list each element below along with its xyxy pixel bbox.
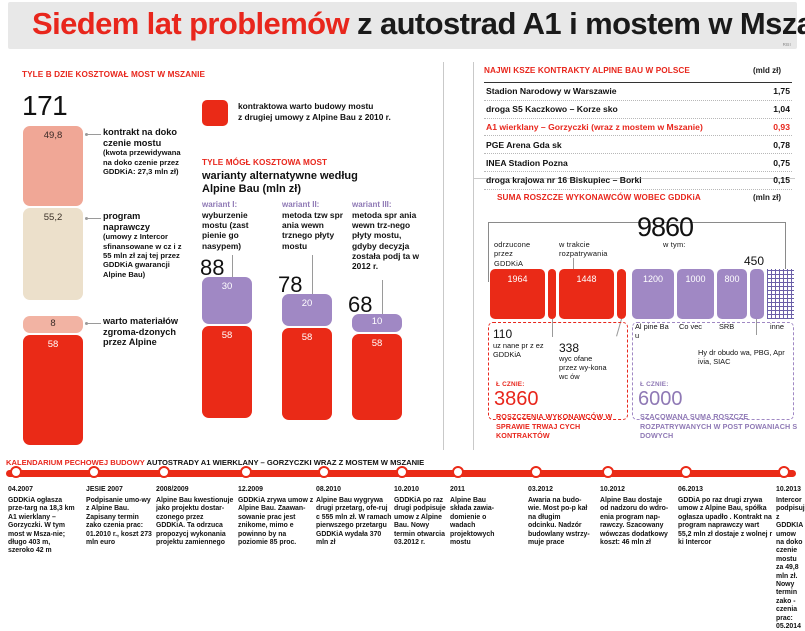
contract-name: A1 wierklany – Gorzyczki (wraz z mostem … <box>486 122 703 132</box>
timeline-dot[interactable] <box>318 466 330 478</box>
legend-text-line1: kontraktowa warto budowy mostu <box>238 101 373 111</box>
timeline-heading: KALENDARIUM PECHOWEJ BUDOWY AUTOSTRADY A… <box>6 458 424 467</box>
stack-segment-4: 58 <box>23 335 83 445</box>
contract-value: 0,93 <box>773 122 790 132</box>
stack-segment-3-value: 8 <box>50 316 55 329</box>
claims-bar-1448-value: 1448 <box>576 269 596 284</box>
timeline-event-text: GDDiA po raz drugi zrywa umow z Alpine B… <box>678 497 772 546</box>
timeline-event-text: Awaria na budo-wie. Most po-p kał na dłu… <box>528 497 590 546</box>
variant-2-base-value: 58 <box>302 328 313 343</box>
table-row: droga krajowa nr 16 Biskupiec – Borki 0,… <box>484 172 792 190</box>
contract-value: 1,75 <box>773 86 790 96</box>
contract-name: PGE Arena Gda sk <box>486 140 562 150</box>
left-panel-total: 171 <box>22 90 67 122</box>
table-row: INEA Stadion Pozna 0,75 <box>484 154 792 172</box>
table-row: Stadion Narodowy w Warszawie 1,75 <box>484 82 792 101</box>
timeline-event: 04.2007 GDDKiA ogłasza prze-targ na 18,3… <box>8 486 78 556</box>
timeline-dot[interactable] <box>680 466 692 478</box>
variant-3-leader <box>382 280 383 314</box>
variant-3-base-bar: 58 <box>352 334 402 420</box>
stack-label-1: kontrakt na doko czenie mostu (kwota prz… <box>103 127 183 176</box>
claims-bar-450 <box>750 269 764 319</box>
timeline-event: 06.2013 GDDiA po raz drugi zrywa umow z … <box>678 486 774 547</box>
stack-segment-1-value: 49,8 <box>44 126 63 141</box>
timeline-event: 10.2010 GDDKiA po raz drugi podpisuje um… <box>394 486 450 547</box>
stack-label-2-sub: (umowy z Intercor sfinansowane w cz i z … <box>103 232 189 279</box>
variant-2-top-value: 20 <box>302 294 313 309</box>
timeline-event-date: 06.2013 <box>678 486 774 494</box>
claims-heading: SUMA ROSZCZE WYKONAWCÓW WOBEC GDDKiA <box>497 193 701 202</box>
timeline-event-text: Alpine Bau składa zawia-domienie o wadac… <box>450 497 494 546</box>
claims-bar-110 <box>548 269 556 319</box>
contract-name: INEA Stadion Pozna <box>486 158 568 168</box>
timeline-event-date: 2008/2009 <box>156 486 234 494</box>
claims-bar-1200-value: 1200 <box>643 269 663 284</box>
stack-label-3: warto materiałów zgroma-dzonych przez Al… <box>103 316 183 348</box>
variant-2-top-bar: 20 <box>282 294 332 326</box>
variant-1-base-bar: 58 <box>202 326 252 418</box>
vertical-divider-right <box>473 62 474 450</box>
claims-total-2-text: SZACOWANA SUMA ROSZCZE ROZPATRYWANYCH W … <box>640 412 800 441</box>
variant-1-desc: wyburzenie mostu (zast pienie go nasypem… <box>202 210 272 251</box>
timeline-event-date: 10.2010 <box>394 486 450 494</box>
timeline-event: 03.2012 Awaria na budo-wie. Most po-p ka… <box>528 486 590 547</box>
timeline-dot[interactable] <box>396 466 408 478</box>
variant-2-desc: metoda tzw spr ania wewn trznego płyty m… <box>282 210 350 251</box>
timeline-event: 10.2013 Intercor podpisuje z GDDKIA umow… <box>776 486 804 631</box>
timeline-heading-black: AUTOSTRADY A1 WIERKLANY – GORZYCZKI WRAZ… <box>147 458 425 467</box>
variants-subheading-line1: warianty alternatywne według <box>202 170 358 182</box>
timeline-dot[interactable] <box>158 466 170 478</box>
timeline-event: JESIE 2007 Podpisanie umo-wy z Alpine Ba… <box>86 486 152 547</box>
timeline-event-text: Alpine Bau wygrywa drugi przetarg, ofe-r… <box>316 497 391 546</box>
variant-1-top-bar: 30 <box>202 277 252 324</box>
claims-unit: (mln zł) <box>753 193 781 202</box>
contracts-unit: (mld zł) <box>753 66 781 75</box>
timeline-dot[interactable] <box>240 466 252 478</box>
claims-grand-total: 9860 <box>637 212 693 243</box>
contract-name: droga krajowa nr 16 Biskupiec – Borki <box>486 175 642 185</box>
vertical-divider-main <box>443 62 444 450</box>
claims-bar-338 <box>617 269 626 319</box>
contracts-table: Stadion Narodowy w Warszawie 1,75 droga … <box>484 82 792 190</box>
stack-label-3-bold: warto materiałów zgroma-dzonych przez Al… <box>103 316 178 347</box>
claims-caption-pending: w trakcie rozpatrywania <box>559 240 619 259</box>
claims-bar-inne <box>767 269 794 319</box>
timeline-event: 08.2010 Alpine Bau wygrywa drugi przetar… <box>316 486 392 547</box>
variant-3-desc: metoda spr ania wewn trz-nego płyty most… <box>352 210 424 271</box>
page-title: Siedem lat problemów z autostrad A1 i mo… <box>32 6 805 42</box>
claims-bar-800-value: 800 <box>724 269 739 284</box>
claims-caption-rejected: odrzucone przez GDDKiA <box>494 240 540 268</box>
timeline-event-date: 03.2012 <box>528 486 590 494</box>
claims-total-1-number: 3860 <box>494 388 539 411</box>
timeline-event-text: GDDKiA po raz drugi podpisuje umow z Alp… <box>394 497 446 546</box>
timeline-dot[interactable] <box>88 466 100 478</box>
page-header: Siedem lat problemów z autostrad A1 i mo… <box>8 2 797 49</box>
timeline-event: 10.2012 Alpine Bau dostaje od nadzoru do… <box>600 486 672 547</box>
stack-label-1-bold: kontrakt na doko czenie mostu <box>103 127 177 148</box>
timeline-dot[interactable] <box>10 466 22 478</box>
timeline-event-text: Alpine Bau kwestionuje jako projektu dos… <box>156 497 233 546</box>
stack-segment-1: 49,8 <box>23 126 83 206</box>
timeline-event-date: 08.2010 <box>316 486 392 494</box>
timeline-heading-red: KALENDARIUM PECHOWEJ BUDOWY <box>6 458 145 467</box>
variant-3-base-value: 58 <box>372 334 383 349</box>
timeline-event-text: Alpine Bau dostaje od nadzoru do wdro- e… <box>600 497 668 546</box>
legend-text-line2: z drugiej umowy z Alpine Bau z 2010 r. <box>238 112 391 122</box>
claims-bar-1000-value: 1000 <box>685 269 705 284</box>
timeline-event-text: GDDKiA zrywa umow z Alpine Bau. Zaawan-s… <box>238 497 313 546</box>
variant-1-name: wariant I: <box>202 200 237 209</box>
contract-value: 0,78 <box>773 140 790 150</box>
contract-name: droga S5 Kaczkowo – Korze sko <box>486 104 618 114</box>
contract-value: 1,04 <box>773 104 790 114</box>
claims-total-2-number: 6000 <box>638 388 683 411</box>
variants-subheading-line2: Alpine Bau (mln zł) <box>202 183 301 195</box>
claims-bar-covec: 1000 <box>677 269 714 319</box>
timeline-event-text: GDDKiA ogłasza prze-targ na 18,3 km A1 w… <box>8 497 75 554</box>
timeline-event-date: 2011 <box>450 486 506 494</box>
variant-2-name: wariant II: <box>282 200 319 209</box>
claims-bar-1448: 1448 <box>559 269 614 319</box>
stack-label-2: program naprawczy (umowy z Intercor sfin… <box>103 211 189 279</box>
legend-text: kontraktowa warto budowy mostu z drugiej… <box>238 101 438 122</box>
timeline-event: 2008/2009 Alpine Bau kwestionuje jako pr… <box>156 486 234 547</box>
timeline-dot[interactable] <box>452 466 464 478</box>
timeline-event: 12.2009 GDDKiA zrywa umow z Alpine Bau. … <box>238 486 314 547</box>
leader-line-1 <box>88 134 101 135</box>
variant-1-base-value: 58 <box>222 326 233 341</box>
claims-bar-450-value: 450 <box>744 254 764 268</box>
header-credit: RBI <box>783 42 791 47</box>
variant-1-top-value: 30 <box>222 277 233 292</box>
timeline-event-date: 10.2012 <box>600 486 672 494</box>
variant-1-leader <box>232 255 233 277</box>
contract-name: Stadion Narodowy w Warszawie <box>486 86 617 96</box>
stack-segment-3: 8 <box>23 316 83 333</box>
variant-2-leader <box>312 255 313 294</box>
claims-total-2-label: Ł CZNIE: <box>640 381 669 388</box>
contract-value: 0,15 <box>773 175 790 185</box>
stack-segment-2-value: 55,2 <box>44 208 63 223</box>
page-title-red: Siedem lat problemów <box>32 6 349 41</box>
page-title-black: z autostrad A1 i mostem w Mszanie <box>357 6 805 41</box>
stack-label-1-sub: (kwota przewidywana na doko czenie przez… <box>103 148 183 176</box>
legend-swatch-icon <box>202 100 228 126</box>
infographic-page: Siedem lat problemów z autostrad A1 i mo… <box>0 0 805 545</box>
claims-total-1-text: ROSZCZENIA WYKONAWCÓW W SPRAWIE TRWAJ CY… <box>496 412 636 441</box>
timeline-event-text: Intercor podpisuje z GDDKIA umow na doko… <box>776 497 805 630</box>
claims-bar-srb: 800 <box>717 269 747 319</box>
left-panel-heading: TYLE B DZIE KOSZTOWAŁ MOST W MSZANIE <box>22 70 205 79</box>
timeline-dot[interactable] <box>602 466 614 478</box>
timeline-dot[interactable] <box>530 466 542 478</box>
variants-heading: TYLE MÓGŁ KOSZTOWA MOST <box>202 158 327 167</box>
timeline-event-text: Podpisanie umo-wy z Alpine Bau. Zapisany… <box>86 497 152 546</box>
claims-total-1-label: Ł CZNIE: <box>496 381 525 388</box>
variant-2-base-bar: 58 <box>282 328 332 420</box>
claims-grand-total-caption: w tym: <box>663 240 686 249</box>
contract-value: 0,75 <box>773 158 790 168</box>
timeline-event: 2011 Alpine Bau składa zawia-domienie o … <box>450 486 506 547</box>
timeline-event-date: 04.2007 <box>8 486 78 494</box>
claims-bar-alpine-bau: 1200 <box>632 269 674 319</box>
claims-bar-1964-value: 1964 <box>507 269 527 284</box>
leader-line-2 <box>88 218 101 219</box>
table-row: droga S5 Kaczkowo – Korze sko 1,04 <box>484 101 792 119</box>
contracts-heading: NAJWI KSZE KONTRAKTY ALPINE BAU W POLSCE <box>484 66 690 75</box>
variants-subheading: warianty alternatywne według Alpine Bau … <box>202 170 358 196</box>
timeline-event-date: 12.2009 <box>238 486 314 494</box>
leader-line-3 <box>88 323 101 324</box>
claims-bar-1964: 1964 <box>490 269 545 319</box>
table-row-highlighted: A1 wierklany – Gorzyczki (wraz z mostem … <box>484 119 792 137</box>
timeline-dot[interactable] <box>778 466 790 478</box>
table-row: PGE Arena Gda sk 0,78 <box>484 136 792 154</box>
stack-segment-2: 55,2 <box>23 208 83 300</box>
timeline-event-date: JESIE 2007 <box>86 486 152 494</box>
stack-segment-4-value: 58 <box>48 335 59 350</box>
variant-3-top-bar: 10 <box>352 314 402 332</box>
variant-3-name: wariant III: <box>352 200 392 209</box>
variant-3-top-value: 10 <box>372 314 383 327</box>
timeline-event-date: 10.2013 <box>776 486 804 494</box>
stack-label-2-bold: program naprawczy <box>103 211 150 232</box>
